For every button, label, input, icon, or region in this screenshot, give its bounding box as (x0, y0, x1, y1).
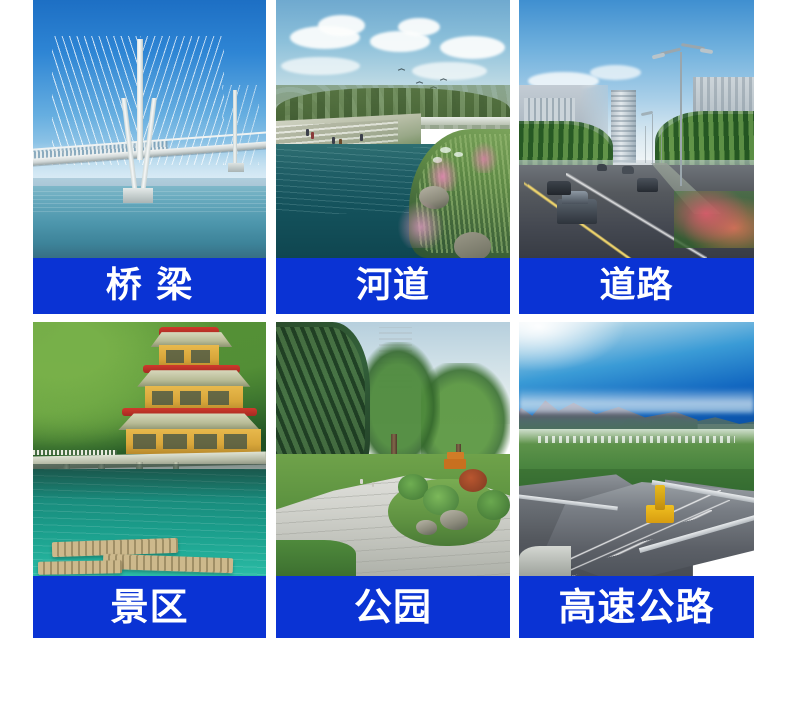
scenic-area-photo (33, 322, 266, 576)
category-card-river-channel[interactable]: 河道 (276, 0, 510, 314)
category-caption-river-channel: 河道 (276, 258, 510, 314)
category-card-park[interactable]: 公园 (276, 322, 510, 638)
category-caption-bridge: 桥 梁 (33, 258, 266, 314)
category-card-scenic-area[interactable]: 景区 (33, 322, 266, 638)
category-card-highway[interactable]: 高速公路 (519, 322, 754, 638)
river-channel-photo (276, 0, 510, 258)
category-card-bridge[interactable]: 桥 梁 (33, 0, 266, 314)
image-category-grid: 桥 梁 (0, 0, 790, 710)
highway-photo (519, 322, 754, 576)
road-photo (519, 0, 754, 258)
park-photo (276, 322, 510, 576)
bridge-photo (33, 0, 266, 258)
category-caption-scenic-area: 景区 (33, 576, 266, 638)
category-card-road[interactable]: 道路 (519, 0, 754, 314)
category-caption-park: 公园 (276, 576, 510, 638)
category-caption-highway: 高速公路 (519, 576, 754, 638)
street-lamp-icon (680, 52, 682, 186)
category-caption-road: 道路 (519, 258, 754, 314)
park-bench (444, 459, 465, 469)
